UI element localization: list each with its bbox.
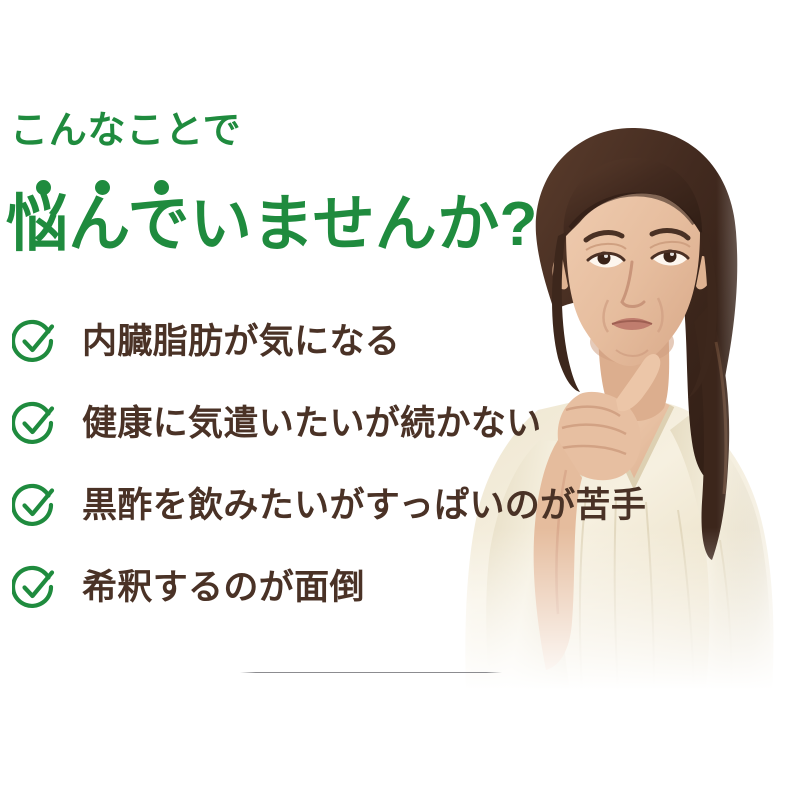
emphasis-dots	[36, 180, 169, 195]
headline-group: 悩んでいませんか?	[6, 170, 538, 256]
list-item-label: 健康に気遣いたいが続かない	[82, 406, 542, 441]
check-circle-icon	[12, 318, 58, 364]
check-circle-icon	[12, 482, 58, 528]
list-item: 内臓脂肪が気になる	[10, 300, 700, 382]
list-item: 健康に気遣いたいが続かない	[10, 382, 700, 464]
promo-banner: こんなことで 悩んでいませんか? 内臓脂肪が気になる	[0, 0, 800, 800]
list-item: 黒酢を飲みたいがすっぱいのが苦手	[10, 464, 700, 546]
list-item-label: 希釈するのが面倒	[82, 570, 365, 605]
emphasis-dot	[154, 180, 169, 195]
check-circle-icon	[12, 400, 58, 446]
list-item: 希釈するのが面倒	[10, 546, 700, 628]
emphasis-dot	[36, 180, 51, 195]
copy-block: こんなことで 悩んでいませんか? 内臓脂肪が気になる	[0, 0, 700, 800]
list-item-label: 黒酢を飲みたいがすっぱいのが苦手	[82, 488, 646, 523]
emphasis-dot	[95, 180, 110, 195]
check-circle-icon	[12, 564, 58, 610]
benefit-checklist: 内臓脂肪が気になる 健康に気遣いたいが続かない	[10, 300, 700, 628]
list-item-label: 内臓脂肪が気になる	[82, 324, 400, 359]
kicker-text: こんなことで	[10, 112, 241, 150]
